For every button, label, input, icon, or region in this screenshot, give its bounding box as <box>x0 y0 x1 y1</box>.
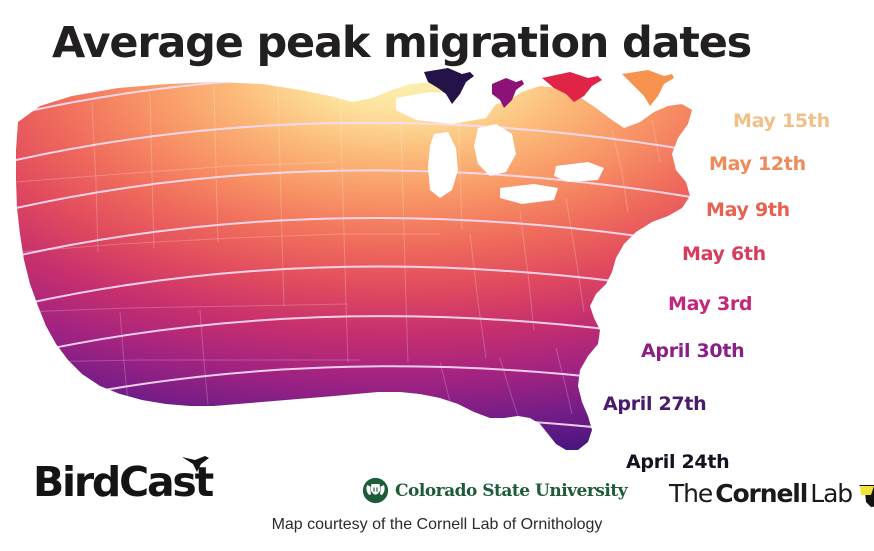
date-label-may-12: May 12th <box>709 153 806 175</box>
csu-wordmark: Colorado State University <box>395 481 627 501</box>
cornell-lab-text: Lab <box>810 481 852 506</box>
ram-head-icon <box>362 477 389 504</box>
date-label-april-27: April 27th <box>603 393 706 415</box>
cornell-name-text: Cornell <box>715 481 807 506</box>
date-label-may-15: May 15th <box>733 110 830 132</box>
date-label-may-3: May 3rd <box>668 293 752 315</box>
page-title: Average peak migration dates <box>52 18 751 68</box>
map-caption: Map courtesy of the Cornell Lab of Ornit… <box>0 516 874 534</box>
date-label-may-9: May 9th <box>706 199 790 221</box>
cornell-the-text: The <box>669 481 712 506</box>
date-label-april-24: April 24th <box>626 451 729 473</box>
birdcast-logo[interactable]: BirdCast <box>33 462 233 517</box>
cornell-lab-logo[interactable]: The Cornell Lab <box>669 476 874 510</box>
date-label-may-6: May 6th <box>682 243 766 265</box>
colorado-state-university-logo[interactable]: Colorado State University <box>362 477 627 504</box>
birdcast-bird-icon <box>181 455 211 473</box>
woodpecker-head-icon <box>857 476 874 510</box>
migration-map-poster: Average peak migration dates <box>0 0 874 551</box>
date-label-april-30: April 30th <box>641 340 744 362</box>
